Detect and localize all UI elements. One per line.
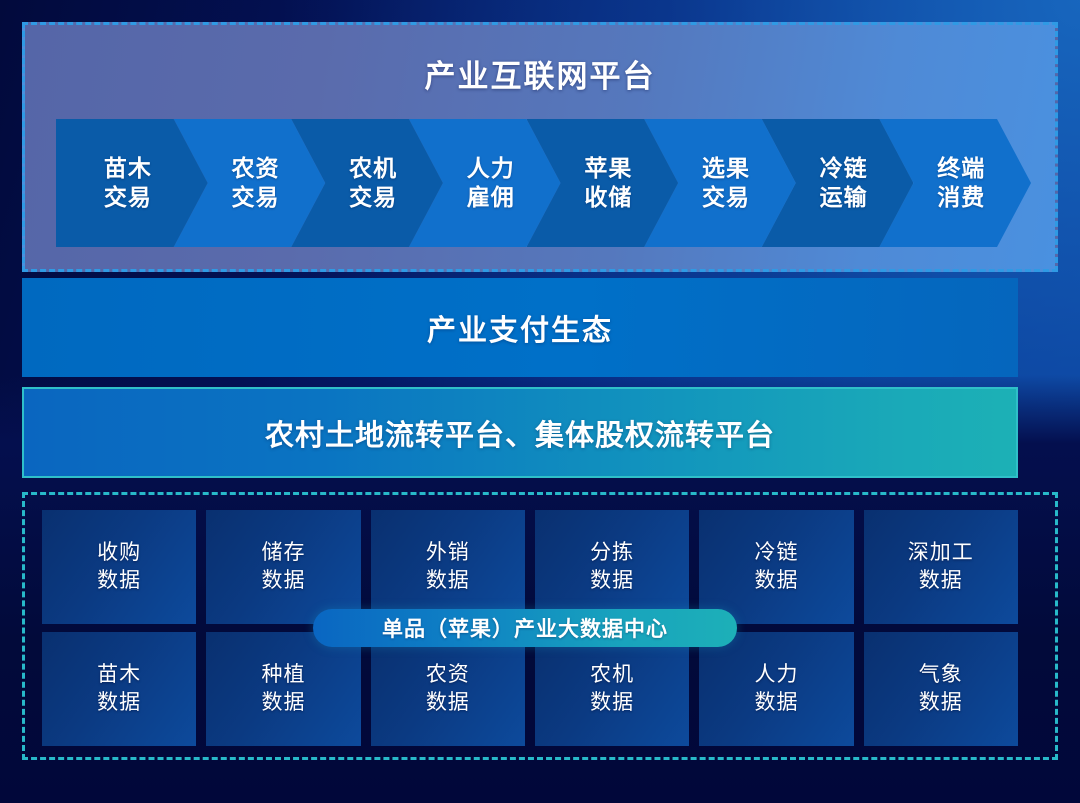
- chevron-label-line2: 交易: [104, 183, 152, 212]
- data-category-box[interactable]: 农机数据: [535, 632, 689, 746]
- data-category-label: 农机数据: [590, 661, 634, 716]
- data-category-label-line2: 数据: [754, 567, 798, 595]
- chevron-label-line1: 人力: [467, 154, 515, 183]
- data-category-label-line2: 数据: [590, 567, 634, 595]
- data-category-label: 气象数据: [919, 661, 963, 716]
- data-category-box[interactable]: 种植数据: [206, 632, 360, 746]
- data-category-label-line1: 储存: [261, 539, 305, 567]
- data-category-box[interactable]: 农资数据: [371, 632, 525, 746]
- data-category-box[interactable]: 分拣数据: [535, 510, 689, 624]
- chevron-step-label: 终端消费: [937, 154, 985, 213]
- payment-ecosystem-band: 产业支付生态: [22, 278, 1018, 377]
- page-title: 产业互联网平台: [25, 51, 1055, 96]
- data-category-box[interactable]: 储存数据: [206, 510, 360, 624]
- chevron-label-line2: 交易: [702, 183, 750, 212]
- chevron-label-line1: 选果: [702, 154, 750, 183]
- payment-ecosystem-label: 产业支付生态: [427, 307, 613, 349]
- data-category-label-line2: 数据: [919, 689, 963, 717]
- data-category-label-line2: 数据: [426, 689, 470, 717]
- chevron-step-label: 选果交易: [702, 154, 750, 213]
- chevron-step-label: 冷链运输: [820, 154, 868, 213]
- data-category-label-line1: 苗木: [97, 661, 141, 689]
- chevron-label-line1: 终端: [937, 154, 985, 183]
- data-category-label: 深加工数据: [908, 539, 974, 594]
- data-category-label: 外销数据: [426, 539, 470, 594]
- data-category-label-line1: 气象: [919, 661, 963, 689]
- data-category-box[interactable]: 苗木数据: [42, 632, 196, 746]
- data-category-label: 种植数据: [261, 661, 305, 716]
- big-data-center-pill: 单品（苹果）产业大数据中心: [313, 609, 737, 647]
- data-category-label: 收购数据: [97, 539, 141, 594]
- data-category-label-line1: 冷链: [754, 539, 798, 567]
- data-category-box[interactable]: 气象数据: [864, 632, 1018, 746]
- chevron-step-label: 苗木交易: [104, 154, 152, 213]
- chevron-step-label: 苹果收储: [584, 154, 632, 213]
- data-category-box[interactable]: 冷链数据: [699, 510, 853, 624]
- chevron-step-label: 农资交易: [231, 154, 279, 213]
- data-category-box[interactable]: 外销数据: [371, 510, 525, 624]
- chevron-step-label: 农机交易: [349, 154, 397, 213]
- data-category-label-line2: 数据: [261, 567, 305, 595]
- data-category-label: 人力数据: [754, 661, 798, 716]
- data-category-label-line2: 数据: [426, 567, 470, 595]
- data-category-box[interactable]: 深加工数据: [864, 510, 1018, 624]
- data-category-label: 分拣数据: [590, 539, 634, 594]
- data-category-label: 农资数据: [426, 661, 470, 716]
- data-category-label-line2: 数据: [754, 689, 798, 717]
- data-category-label: 储存数据: [261, 539, 305, 594]
- chevron-label-line2: 交易: [349, 183, 397, 212]
- data-category-row: 苗木数据种植数据农资数据农机数据人力数据气象数据: [42, 632, 1018, 746]
- data-category-label: 冷链数据: [754, 539, 798, 594]
- chevron-label-line2: 收储: [584, 183, 632, 212]
- chevron-label-line2: 消费: [937, 183, 985, 212]
- data-category-label-line2: 数据: [261, 689, 305, 717]
- chevron-label-line1: 苹果: [584, 154, 632, 183]
- land-transfer-platform-label: 农村土地流转平台、集体股权流转平台: [265, 412, 775, 454]
- data-category-row: 收购数据储存数据外销数据分拣数据冷链数据深加工数据: [42, 510, 1018, 624]
- chevron-label-line2: 雇佣: [467, 183, 515, 212]
- data-category-label-line1: 农资: [426, 661, 470, 689]
- data-category-label-line1: 人力: [754, 661, 798, 689]
- data-category-box[interactable]: 收购数据: [42, 510, 196, 624]
- big-data-center-label: 单品（苹果）产业大数据中心: [382, 613, 668, 643]
- data-category-label-line2: 数据: [97, 689, 141, 717]
- chevron-label-line1: 农资: [231, 154, 279, 183]
- data-category-label-line1: 外销: [426, 539, 470, 567]
- data-category-label: 苗木数据: [97, 661, 141, 716]
- data-category-label-line1: 深加工: [908, 539, 974, 567]
- data-category-label-line2: 数据: [97, 567, 141, 595]
- land-transfer-platform-band: 农村土地流转平台、集体股权流转平台: [22, 387, 1018, 478]
- chevron-label-line1: 冷链: [820, 154, 868, 183]
- chevron-label-line1: 苗木: [104, 154, 152, 183]
- data-category-label-line1: 农机: [590, 661, 634, 689]
- data-category-label-line2: 数据: [590, 689, 634, 717]
- data-category-label-line1: 种植: [261, 661, 305, 689]
- chevron-label-line2: 运输: [820, 183, 868, 212]
- data-category-label-line2: 数据: [908, 567, 974, 595]
- chevron-label-line2: 交易: [231, 183, 279, 212]
- data-category-label-line1: 收购: [97, 539, 141, 567]
- data-category-label-line1: 分拣: [590, 539, 634, 567]
- chevron-label-line1: 农机: [349, 154, 397, 183]
- diagram-canvas: 产业互联网平台 苗木交易农资交易农机交易人力雇佣苹果收储选果交易冷链运输终端消费…: [0, 0, 1080, 803]
- industrial-internet-platform-panel: 产业互联网平台 苗木交易农资交易农机交易人力雇佣苹果收储选果交易冷链运输终端消费: [22, 22, 1058, 272]
- value-chain-chevron-row: 苗木交易农资交易农机交易人力雇佣苹果收储选果交易冷链运输终端消费: [56, 119, 1031, 247]
- chevron-step-label: 人力雇佣: [467, 154, 515, 213]
- data-category-box[interactable]: 人力数据: [699, 632, 853, 746]
